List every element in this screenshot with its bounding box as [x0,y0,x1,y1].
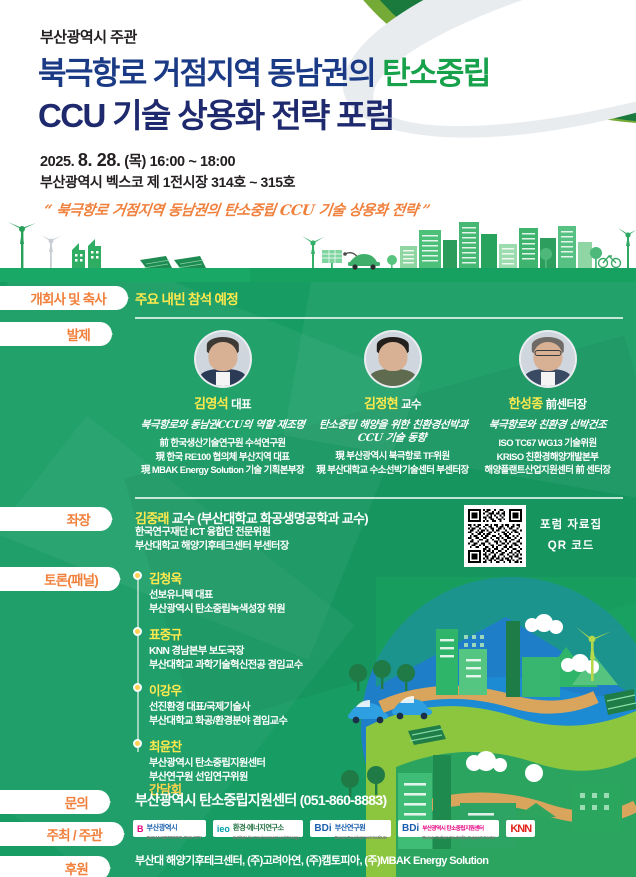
avatar [194,330,252,388]
logo-mark: B [137,824,144,834]
speaker-card-3: 한성종 前센터장 북극항로와 친환경 선박건조 ISO TC67 WG13 기술… [465,330,630,477]
avatar-shirt [540,372,554,388]
credential-line: KNN 경남본부 보도국장 [149,645,303,659]
credential-line: 부산광역시 탄소중립녹색성장 위원 [149,603,285,617]
chair-name-text: 김중래 [135,511,169,526]
credential-line: KRISO 친환경해양개발본부 [465,450,630,464]
avatar [519,330,577,388]
poster-root: 부산광역시 주관 북극항로 거점지역 동남권의 탄소중립 CCU 기술 상용화 … [0,0,636,877]
logo-text-wrap: 환경·에너지연구소 Institute for Environment and … [233,817,300,840]
panelist-name: 이강우 [149,680,287,699]
logo-text-wrap: 부산연구원 Busan Development Institute [335,817,387,840]
event-datetime: 2025. 8. 28. (목) 16:00 ~ 18:00 [40,150,235,171]
logo-subtext: Busan Carbon Neutrality Support Center [422,835,495,840]
credential-line: 現 한국 RE100 협의체 부산지역 대표 [140,450,305,464]
date-main: 8. 28. [78,150,121,170]
qr-section[interactable]: 포럼 자료집 QR 코드 [464,505,602,567]
credential-line: 부산대학교 화공/환경분야 겸임교수 [149,715,287,729]
speaker-card-2: 김정현 교수 탄소중립 해양을 위한 친환경선박과 CCU 기술 동향 現 부산… [310,330,475,477]
avatar-shirt [215,372,229,388]
avatar-body [369,369,415,388]
panelist-credentials: 선진환경 대표/국제기술사 부산대학교 화공/환경분야 겸임교수 [149,701,287,730]
qr-code-image[interactable] [464,505,526,567]
speaker-name: 김정현 교수 [310,393,475,412]
tab-chair[interactable]: 좌장 [0,507,112,531]
chair-title: 교수 (부산대학교 화공생명공학과 교수) [169,511,368,526]
date-prefix: 2025. [40,154,78,170]
avatar-face [533,342,562,371]
speaker-credentials: 前 한국생산기술연구원 수석연구원 現 한국 RE100 협의체 부산지역 대표… [140,436,305,477]
speaker-role: 대표 [231,399,251,411]
eco-skyline-illustration [0,220,636,282]
speaker-topic: 탄소중립 해양을 위한 친환경선박과 CCU 기술 동향 [309,419,477,445]
title-line1-highlight: 탄소중립 [382,56,490,91]
logo-text-wrap: 부산광역시 탄소중립지원센터 Busan Carbon Neutrality S… [422,817,495,840]
speaker-role: 교수 [401,399,421,411]
poster-content: 개회사 및 축사 발제 좌장 토론(패널) 문의 주최 / 주관 후원 주요 내… [0,282,636,877]
title-line1-main: 북극항로 거점지역 동남권의 [38,56,382,91]
panelist-1: 김청욱 선보유니텍 대표 부산광역시 탄소중립녹색성장 위원 [133,568,285,618]
panel-bullet-icon [133,627,142,636]
credential-line: 現 부산광역시 북극항로 TF위원 [310,449,475,463]
event-venue: 부산광역시 벡스코 제 1전시장 314호 ~ 315호 [40,172,295,192]
panelist-credentials: 선보유니텍 대표 부산광역시 탄소중립녹색성장 위원 [149,589,285,618]
avatar-face [208,342,237,371]
page-title-line2: CCU 기술 상용화 전략 포럼 [38,89,394,137]
speaker-card-1: 김영석 대표 북극항로와 동남권CCU의 역할 재조명 前 한국생산기술연구원 … [140,330,305,477]
credential-line: 現 부산대학교 수소선박기술센터 부센터장 [310,463,475,477]
host-line: 부산광역시 주관 [40,26,137,47]
chair-name: 김중래 교수 (부산대학교 화공생명공학과 교수) [135,508,368,527]
credential-line: 부산대학교 과학기술혁신전공 겸임교수 [149,659,303,673]
tab-inquiry[interactable]: 문의 [0,790,110,814]
qr-label: 포럼 자료집 QR 코드 [540,515,602,558]
avatar [364,330,422,388]
avatar-glasses [534,350,561,356]
credential-line: 부산광역시 탄소중립지원센터 [149,757,265,771]
date-suffix: (목) 16:00 ~ 18:00 [121,154,236,170]
logo-text: 부산광역시 [147,823,178,832]
speaker-topic: 북극항로와 동남권CCU의 역할 재조명 [139,419,305,432]
speaker-credentials: ISO TC67 WG13 기술위원 KRISO 친환경해양개발본부 해양플랜트… [465,436,630,477]
tab-opening-remarks[interactable]: 개회사 및 축사 [0,286,128,310]
speaker-role: 前센터장 [546,399,587,411]
panelist-name: 최윤찬 [149,736,265,755]
contact-info: 부산광역시 탄소중립지원센터 (051-860-8883) [135,790,386,810]
speaker-name-text: 김정현 [364,396,398,411]
panel-bullet-icon [133,571,142,580]
logo-environment-energy-institute: ieo 환경·에너지연구소 Institute for Environment … [213,820,304,837]
qr-label-line2: QR 코드 [540,536,602,557]
qr-code-svg [468,509,522,563]
panelist-2: 표중규 KNN 경남본부 보도국장 부산대학교 과학기술혁신전공 겸임교수 [133,624,303,674]
tab-presentation[interactable]: 발제 [0,322,112,346]
logo-mark: ieo [217,824,230,834]
speaker-name: 김영석 대표 [140,393,305,412]
speaker-credentials: 現 부산광역시 북극항로 TF위원 現 부산대학교 수소선박기술센터 부센터장 [310,449,475,476]
logo-mark: KNN [510,823,531,835]
logo-mark: BDi [402,823,419,834]
panelist-name: 김청욱 [149,568,285,587]
credential-line: 부산대학교 해양기후테크센터 부센터장 [135,540,289,554]
tab-sponsor[interactable]: 후원 [0,856,110,877]
credential-line: 해양플랜트산업지원센터 前 센터장 [465,463,630,477]
logo-mark: BDi [314,823,331,834]
speaker-name: 한성종 前센터장 [465,393,630,412]
speaker-topic: 북극항로와 친환경 선박건조 [464,419,630,432]
speaker-name-text: 김영석 [194,396,228,411]
guests-section-title: 주요 내빈 참석 예정 [135,288,238,308]
chair-credentials: 한국연구재단 ICT 융합단 전문위원 부산대학교 해양기후테크센터 부센터장 [135,526,289,555]
credential-line: 선진환경 대표/국제기술사 [149,701,287,715]
poster-header: 부산광역시 주관 북극항로 거점지역 동남권의 탄소중립 CCU 기술 상용화 … [0,0,636,282]
divider-top [135,317,623,319]
event-quote: “ 북극항로 거점지역 동남권의 탄소중립 CCU 기술 상용화 전략 ” [43,199,432,220]
logo-busan-development-institute: BDi 부산연구원 Busan Development Institute [310,820,391,837]
logo-text-wrap: 부산광역시 BUSAN METROPOLITAN CITY [147,817,202,840]
credential-line: 선보유니텍 대표 [149,589,285,603]
tab-panel-discussion[interactable]: 토론(패널) [0,567,120,591]
logo-subtext: BUSAN METROPOLITAN CITY [147,835,202,840]
logo-carbon-neutrality-center: BDi 부산광역시 탄소중립지원센터 Busan Carbon Neutrali… [398,820,499,837]
credential-line: 한국연구재단 ICT 융합단 전문위원 [135,526,289,540]
panelist-3: 이강우 선진환경 대표/국제기술사 부산대학교 화공/환경분야 겸임교수 [133,680,287,730]
panelist-name: 표중규 [149,624,303,643]
panel-bullet-icon [133,739,142,748]
tab-organizer[interactable]: 주최 / 주관 [0,822,124,846]
page-title-line1: 북극항로 거점지역 동남권의 탄소중립 [38,48,490,93]
credential-line: 現 MBAK Energy Solution 기술 기획본부장 [140,463,305,477]
organizer-logos: B 부산광역시 BUSAN METROPOLITAN CITY ieo 환경·에… [133,820,535,837]
credential-line: 前 한국생산기술연구원 수석연구원 [140,436,305,450]
panelist-credentials: KNN 경남본부 보도국장 부산대학교 과학기술혁신전공 겸임교수 [149,645,303,674]
qr-label-line1: 포럼 자료집 [540,515,602,536]
logo-subtext: Busan Development Institute [335,835,387,840]
logo-knn: KNN [506,820,535,837]
logo-text: 부산연구원 [335,823,366,832]
credential-line: ISO TC67 WG13 기술위원 [465,436,630,450]
divider-chair [135,497,623,499]
logo-subtext: Institute for Environment and Energy [233,835,300,840]
logo-text: 부산광역시 탄소중립지원센터 [422,826,483,832]
speaker-name-text: 한성종 [509,396,543,411]
support-organizations: 부산대 해양기후테크센터, (주)고려아연, (주)캠토피아, (주)MBAK … [135,852,488,868]
avatar-face [378,342,407,371]
logo-busan-city: B 부산광역시 BUSAN METROPOLITAN CITY [133,820,206,837]
panel-bullet-icon [133,683,142,692]
logo-text: 환경·에너지연구소 [233,823,284,832]
